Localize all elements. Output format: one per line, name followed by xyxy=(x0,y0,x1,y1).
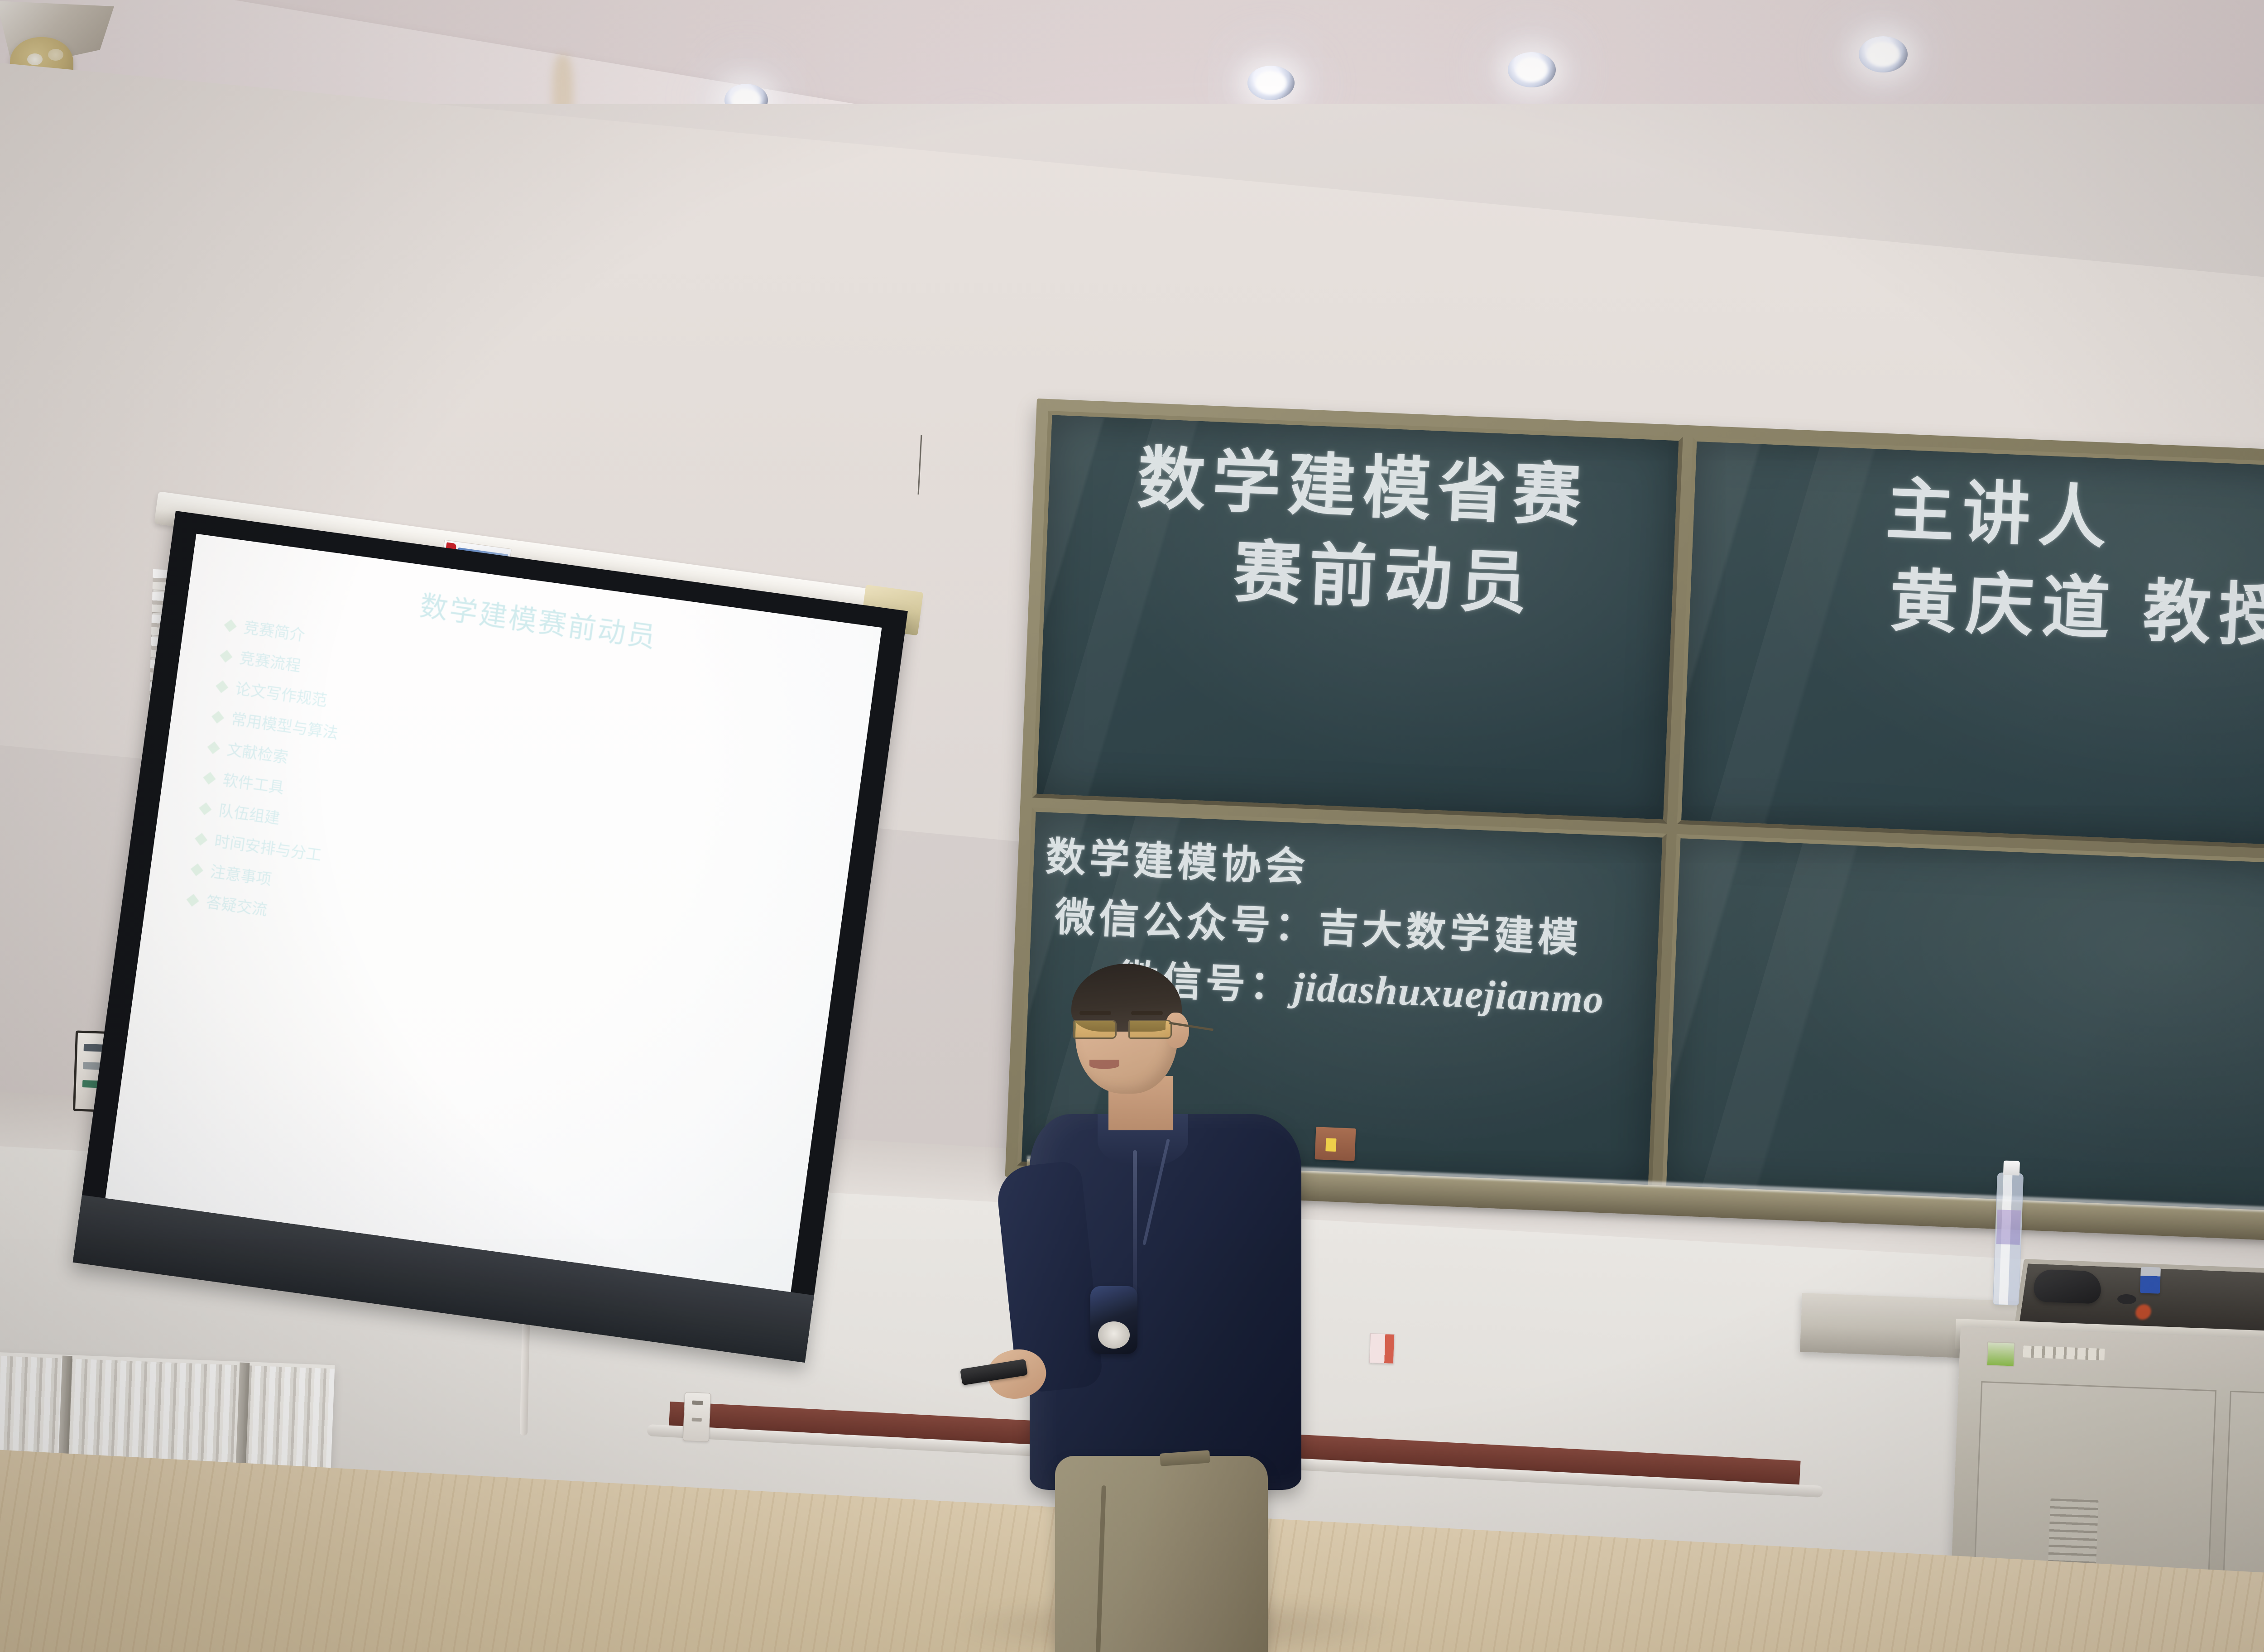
blackboard-panel-top-right: 主讲人 黄庆道 教授 xyxy=(1677,437,2264,856)
blackboard-speaker-name: 黄庆道 教授 xyxy=(1888,556,2264,664)
diamond-bullet-icon xyxy=(199,802,211,815)
projection-screen-surface: 数学建模赛前动员 竞赛简介竞赛流程论文写作规范常用模型与算法文献检索软件工具队伍… xyxy=(106,534,882,1292)
diamond-bullet-icon xyxy=(191,864,203,876)
slide-bullet-label: 论文写作规范 xyxy=(235,681,328,709)
presenter-mouth xyxy=(1089,1060,1119,1069)
cabinet-indicator-bar xyxy=(2023,1345,2105,1360)
diamond-bullet-icon xyxy=(207,741,220,754)
lecture-hall-photo: 数学建模赛前动员 竞赛简介竞赛流程论文写作规范常用模型与算法文献检索软件工具队伍… xyxy=(0,0,2264,1652)
diamond-bullet-icon xyxy=(187,894,199,907)
blackboard-panel-bottom-right xyxy=(1662,834,2264,1225)
slide-bullet-label: 注意事项 xyxy=(209,864,272,888)
glasses-icon xyxy=(1073,1020,1178,1040)
bottle-label xyxy=(1996,1210,2021,1244)
glasses-temple xyxy=(1169,1022,1214,1031)
wall-outlet xyxy=(683,1392,711,1442)
computer-mouse[interactable] xyxy=(2034,1269,2101,1304)
slide-bullet-label: 竞赛简介 xyxy=(243,620,306,644)
slide-bullet-list: 竞赛简介竞赛流程论文写作规范常用模型与算法文献检索软件工具队伍组建时间安排与分工… xyxy=(187,618,839,991)
downlight-icon xyxy=(1247,66,1295,100)
blackboard-panel-top-left: 数学建模省赛 赛前动员 xyxy=(1032,411,1683,823)
diamond-bullet-icon xyxy=(216,680,228,693)
slide-bullet-label: 答疑交流 xyxy=(205,894,268,918)
slide-bullet-label: 文献检索 xyxy=(226,742,289,765)
usb-flash-drive[interactable] xyxy=(2140,1267,2161,1294)
diamond-bullet-icon xyxy=(224,619,237,632)
downlight-icon xyxy=(1508,52,1556,87)
diamond-bullet-icon xyxy=(195,833,207,845)
blackboard-title-line2: 赛前动员 xyxy=(1182,526,1586,632)
slide-bullet-label: 时间安排与分工 xyxy=(213,834,322,864)
presenter-trousers xyxy=(1055,1456,1268,1652)
water-bottle[interactable] xyxy=(1993,1172,2024,1306)
jacket-zipper xyxy=(1133,1150,1137,1300)
diamond-bullet-icon xyxy=(203,772,216,785)
clip-on-microphone[interactable] xyxy=(1090,1286,1137,1354)
downlight-icon xyxy=(1859,36,1908,72)
blackboard-title-main: 数学建模省赛 赛前动员 xyxy=(1132,434,1590,632)
blackboard-empty-area xyxy=(1692,854,2264,885)
blackboard-speaker-label: 主讲人 xyxy=(1885,465,2264,572)
slide-bullet-label: 队伍组建 xyxy=(218,803,281,826)
bottle-cap xyxy=(2003,1161,2020,1176)
glasses-lens-right xyxy=(1073,1020,1117,1039)
cabinet-label-icon xyxy=(1986,1341,2015,1367)
wechat-id-value: jidashuxuejianmo xyxy=(1292,965,1605,1022)
glasses-lens-left xyxy=(1128,1020,1172,1039)
diamond-bullet-icon xyxy=(211,711,224,724)
presenter xyxy=(983,969,1336,1652)
slide-bullet-label: 竞赛流程 xyxy=(239,650,302,674)
chalk-box[interactable] xyxy=(1369,1333,1395,1364)
slide-bullet-label: 软件工具 xyxy=(222,773,285,796)
projection-screen[interactable]: 数学建模赛前动员 竞赛简介竞赛流程论文写作规范常用模型与算法文献检索软件工具队伍… xyxy=(73,511,908,1363)
slide-bullet-label: 常用模型与算法 xyxy=(230,711,339,741)
blackboard-title-line1: 数学建模省赛 xyxy=(1136,441,1590,535)
association-name: 数学建模协会 xyxy=(1045,835,1310,890)
diamond-bullet-icon xyxy=(220,650,232,663)
slide-content: 数学建模赛前动员 竞赛简介竞赛流程论文写作规范常用模型与算法文献检索软件工具队伍… xyxy=(106,534,882,1292)
blackboard-speaker-block: 主讲人 黄庆道 教授 xyxy=(1869,464,2264,663)
